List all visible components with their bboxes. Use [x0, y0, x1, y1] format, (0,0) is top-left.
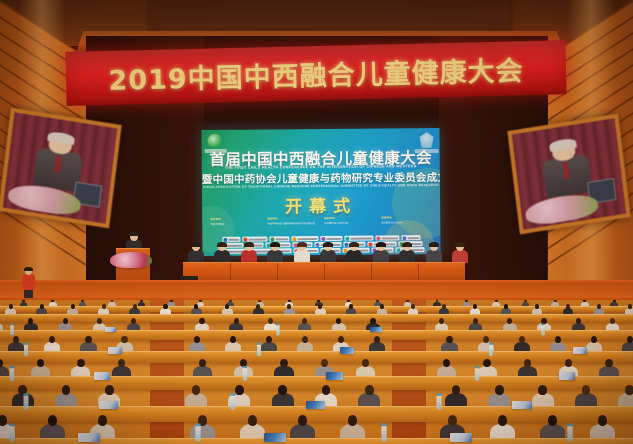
audience-head: [576, 318, 581, 324]
audience-head: [507, 318, 512, 324]
audience-head: [71, 304, 75, 309]
water-bottle: [23, 393, 28, 410]
head-table-delegate: [214, 243, 230, 263]
conference-folder: [340, 347, 354, 353]
audience-head: [48, 415, 58, 426]
water-bottle: [475, 366, 480, 381]
water-bottle: [24, 343, 28, 357]
audience-head: [452, 385, 460, 395]
conference-folder: [306, 401, 325, 409]
audience-head: [628, 304, 632, 309]
audience-head: [362, 359, 369, 367]
audience-head: [605, 359, 612, 367]
conference-hall-photo: 2019中国中西融合儿童健康大会 首: [0, 0, 633, 444]
organizer-body: 中国中药协会儿童健康与药物研究专业委员会: [267, 222, 318, 226]
audience-head: [280, 359, 287, 367]
water-bottle: [9, 423, 15, 441]
audience-head: [548, 415, 558, 426]
head-table-delegate: [188, 243, 204, 263]
audience-head: [473, 318, 478, 324]
audience-head: [63, 318, 68, 324]
audience-head: [234, 318, 239, 324]
audience-head: [194, 336, 200, 343]
audience-head: [102, 304, 106, 309]
conference-folder: [512, 401, 531, 409]
audience-head: [230, 336, 236, 343]
audience-head: [40, 304, 44, 309]
audience-head: [302, 318, 307, 324]
audience-head: [322, 385, 330, 395]
water-bottle: [10, 366, 15, 381]
audience-head: [77, 359, 84, 367]
screen-headline-opening-ceremony: 开幕式: [202, 191, 440, 218]
water-bottle: [276, 324, 280, 336]
audience-head: [443, 359, 450, 367]
head-table-delegate: [267, 243, 283, 263]
head-table-delegate: [373, 243, 389, 263]
water-bottle: [437, 393, 442, 410]
audience-head: [163, 304, 167, 309]
audience-head: [298, 415, 308, 426]
audience-head: [98, 415, 108, 426]
conference-folder: [264, 433, 286, 443]
audience-head: [97, 318, 102, 324]
head-table-delegate: [346, 243, 362, 263]
organizer-heading: 承办单位:: [267, 217, 318, 221]
screen-title-en: THE FIRST CHILD HEALTH CONFERENCE ON THE…: [202, 164, 440, 170]
audience-head: [627, 336, 633, 343]
organizer-body: 中国中药协会: [210, 222, 261, 226]
green-circle-emblem-icon: [207, 134, 221, 148]
water-bottle: [542, 324, 546, 336]
organizer-body: 中华医学会儿科学分会: [324, 221, 375, 225]
head-table-delegate: [426, 243, 442, 263]
audience-head: [192, 385, 200, 395]
audience-head: [498, 415, 508, 426]
podium-flower-arrangement: [110, 252, 152, 268]
sponsor-logo: [269, 236, 289, 241]
audience-head: [9, 304, 13, 309]
audience-head: [365, 385, 373, 395]
audience-head: [473, 304, 477, 309]
audience-head: [268, 318, 273, 324]
standing-attendant: [22, 268, 35, 298]
audience-head: [483, 336, 489, 343]
conference-folder: [370, 327, 382, 332]
audience-head: [37, 359, 44, 367]
water-bottle: [230, 393, 235, 410]
conference-folder: [559, 372, 576, 379]
audience-head: [131, 318, 136, 324]
audience-head: [566, 304, 570, 309]
sponsor-logo: [401, 235, 420, 240]
water-bottle: [242, 366, 247, 381]
audience-head: [118, 359, 125, 367]
conference-folder: [105, 327, 117, 332]
sponsor-logo: [344, 236, 373, 241]
audience-head: [133, 304, 137, 309]
audience-head: [591, 336, 597, 343]
audience-head: [348, 415, 358, 426]
water-bottle: [567, 423, 573, 441]
audience-head: [535, 304, 539, 309]
left-side-led-screen: [0, 108, 122, 229]
audience-head: [483, 359, 490, 367]
water-bottle: [256, 343, 260, 357]
audience-head: [278, 385, 286, 395]
conference-folder: [108, 347, 122, 353]
head-table-delegate: [241, 243, 257, 263]
sponsor-logo: [291, 236, 318, 241]
conference-folder: [99, 401, 118, 409]
conference-folder: [573, 347, 587, 353]
audience-head: [28, 318, 33, 324]
banner-title-text: 2019中国中西融合儿童健康大会: [108, 49, 524, 98]
audience-head: [439, 318, 444, 324]
audience-head: [625, 385, 633, 395]
audience-head: [565, 359, 572, 367]
head-table-delegate: [452, 243, 468, 263]
audience-head: [336, 318, 341, 324]
audience-head: [598, 415, 608, 426]
audience-head: [610, 318, 615, 324]
audience-seating: [0, 300, 633, 444]
main-led-screen: 首届中国中西融合儿童健康大会 THE FIRST CHILD HEALTH CO…: [201, 128, 440, 256]
audience-head: [105, 385, 113, 395]
conference-folder: [450, 433, 472, 443]
audience-head: [582, 385, 590, 395]
organizer-heading: 主办单位:: [210, 218, 261, 222]
audience-head: [248, 415, 258, 426]
head-table-delegate: [294, 243, 310, 263]
sponsor-logo: [242, 236, 267, 241]
sponsor-logo: [375, 235, 399, 240]
audience-head: [235, 385, 243, 395]
speaker-closeup: [540, 138, 592, 199]
audience-head: [199, 318, 204, 324]
conference-folder: [326, 372, 343, 379]
head-table-delegate: [399, 243, 415, 263]
audience-head: [495, 385, 503, 395]
audience-head: [62, 385, 70, 395]
audience-head: [446, 336, 452, 343]
audience-head: [555, 336, 561, 343]
audience-head: [85, 336, 91, 343]
audience-head: [519, 336, 525, 343]
head-table-delegate: [320, 243, 336, 263]
audience-head: [597, 304, 601, 309]
audience-head: [370, 318, 375, 324]
audience-head: [121, 336, 127, 343]
organizer-heading: 支持单位:: [381, 216, 432, 220]
audience-head: [538, 385, 546, 395]
ceiling-coffer: [150, 0, 510, 32]
water-bottle: [381, 423, 387, 441]
audience-head: [448, 415, 458, 426]
sponsor-logo: [320, 236, 342, 241]
audience-head: [504, 304, 508, 309]
sponsor-logo: [222, 237, 240, 242]
water-bottle: [195, 423, 201, 441]
water-bottle: [10, 324, 14, 336]
stage-apron: [0, 282, 633, 298]
conference-folder: [94, 372, 111, 379]
organizer-body: 相关医药企业及机构: [381, 221, 432, 225]
audience-head: [321, 359, 328, 367]
right-side-led-screen: [507, 114, 630, 235]
water-bottle: [489, 343, 493, 357]
audience-head: [266, 336, 272, 343]
conference-folder: [78, 433, 100, 443]
organizer-heading: 协办单位:: [324, 217, 375, 221]
